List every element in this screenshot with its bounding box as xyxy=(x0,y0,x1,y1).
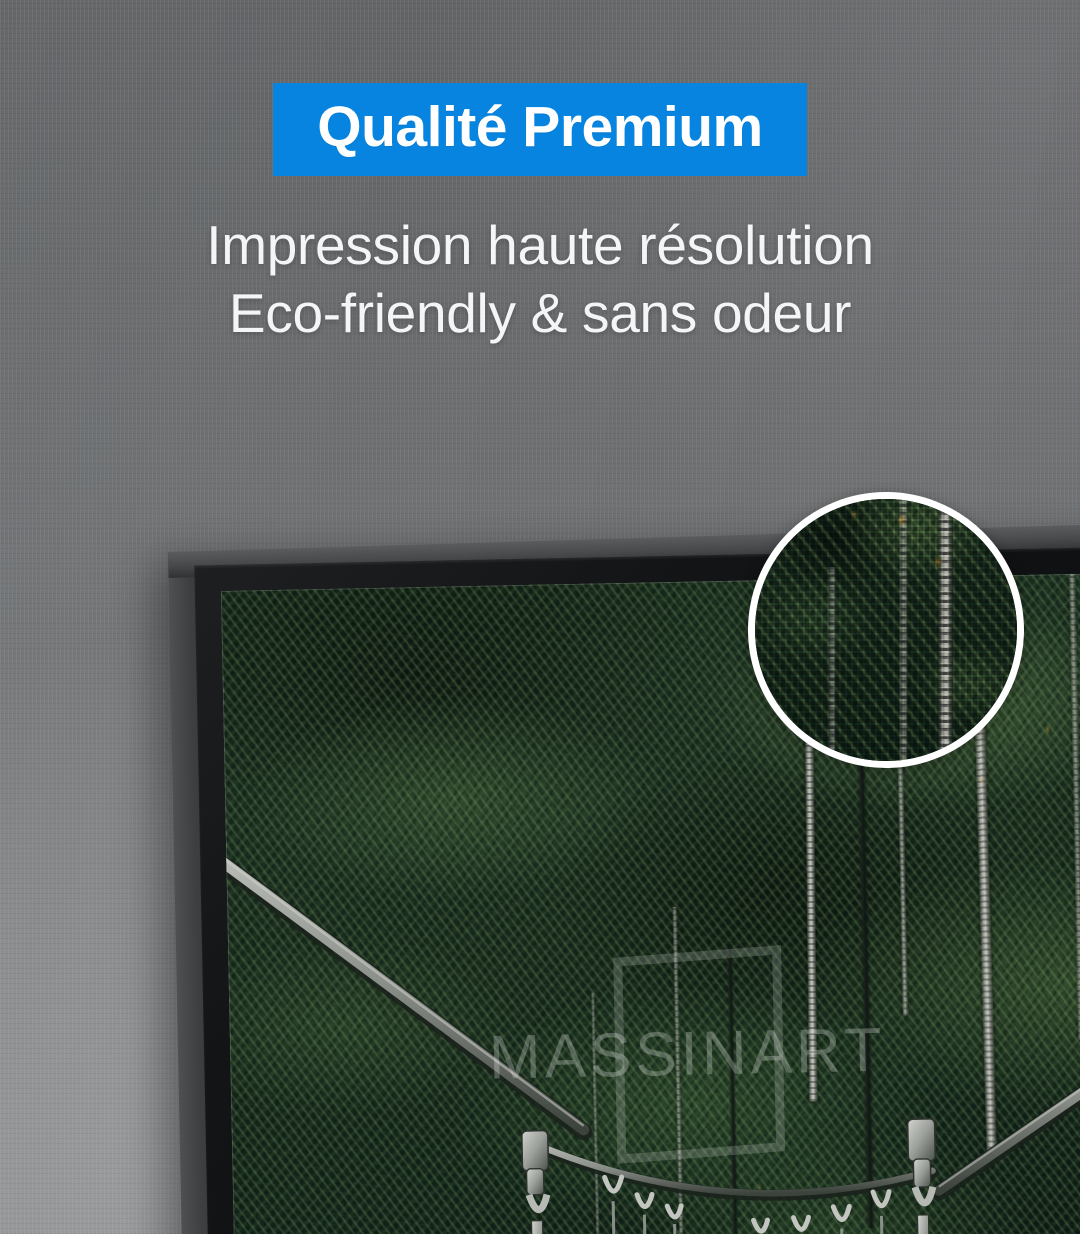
canvas-weave-texture xyxy=(755,499,1017,761)
magnifier-circle-icon xyxy=(748,492,1024,768)
tagline-line-1: Impression haute résolution xyxy=(0,217,1080,274)
tagline-line-2: Eco-friendly & sans odeur xyxy=(0,285,1080,342)
tagline: Impression haute résolution Eco-friendly… xyxy=(0,217,1080,342)
premium-quality-badge: Qualité Premium xyxy=(273,83,806,176)
headline-copy: Qualité Premium Impression haute résolut… xyxy=(0,0,1080,342)
product-feature-banner: MASSINART Qualité Premium Impression hau… xyxy=(0,0,1080,1234)
